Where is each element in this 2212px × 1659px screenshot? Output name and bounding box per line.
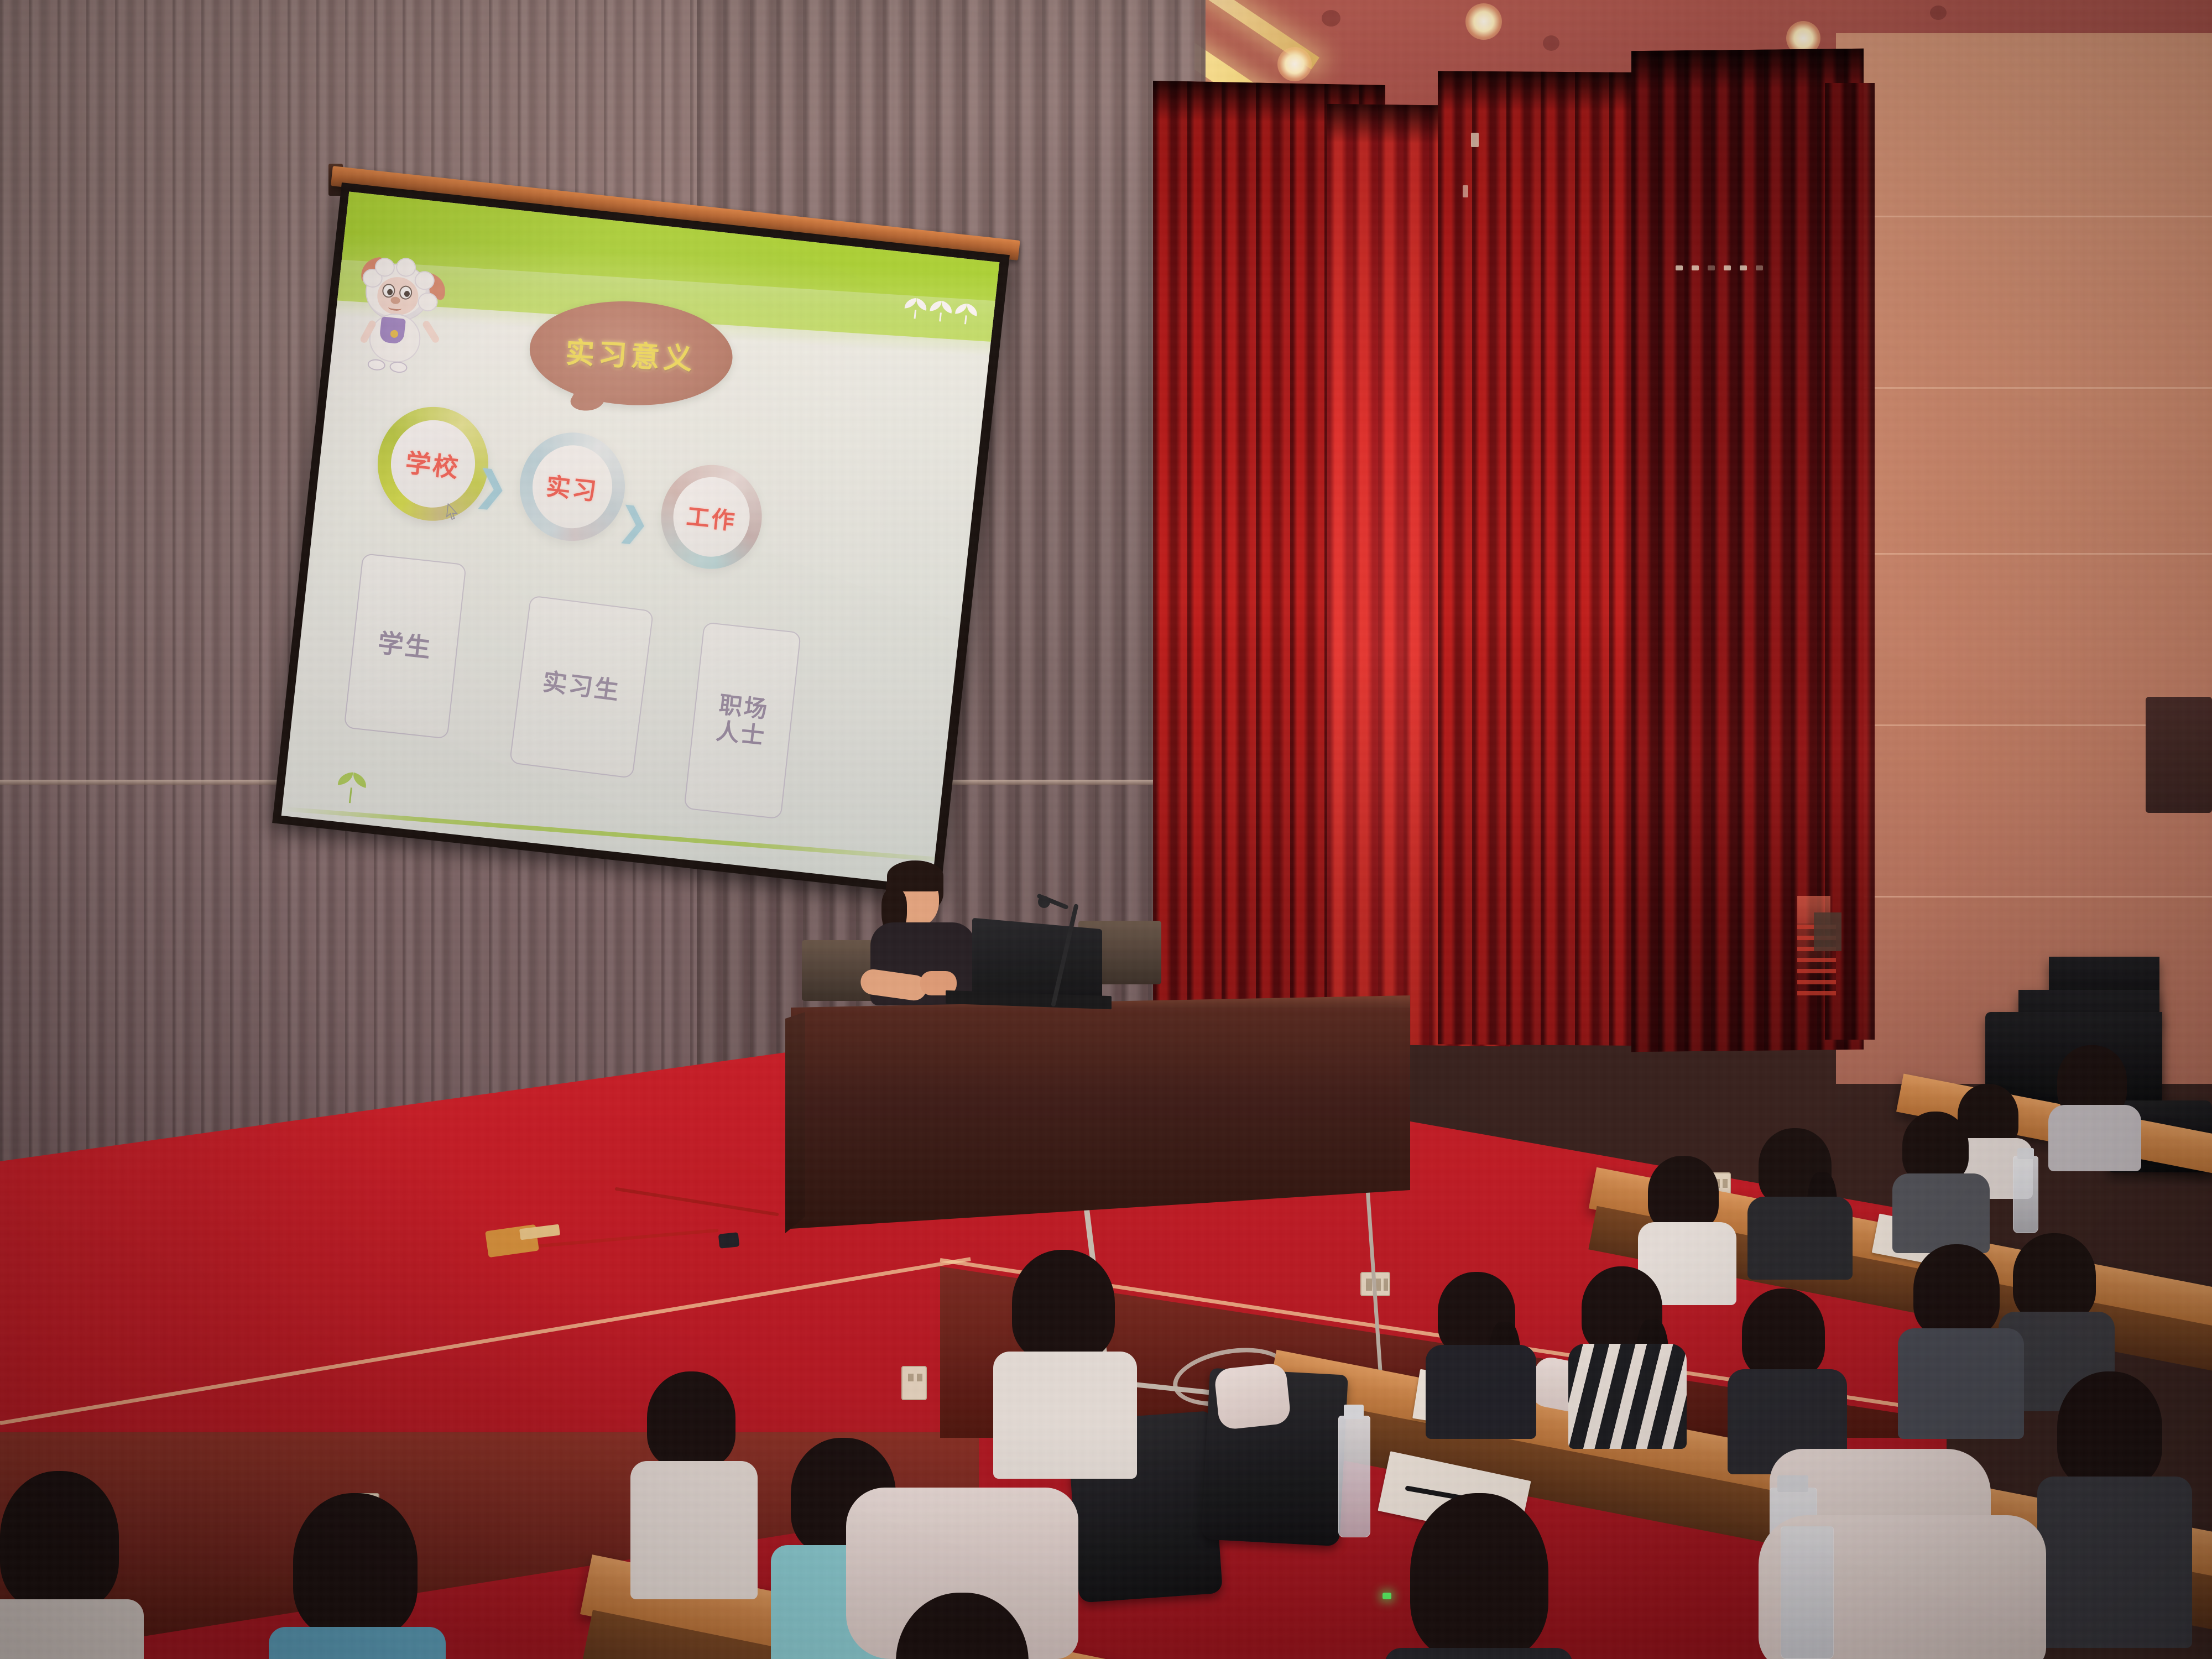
wall-outlet [901, 1366, 927, 1400]
wall-seam [1836, 216, 2212, 217]
podium-side-panel [785, 1012, 805, 1233]
person-body [630, 1461, 758, 1599]
bottle-cap [1344, 1405, 1364, 1419]
person-body [1747, 1197, 1853, 1280]
ceiling-vent [1322, 10, 1340, 27]
role-line-2: 人士 [715, 717, 768, 749]
ceiling-downlight [1465, 3, 1502, 40]
person-hair [1410, 1493, 1548, 1659]
slide-bottom-sprout [336, 771, 368, 804]
person-body [1426, 1345, 1536, 1439]
presenter-podium [791, 1008, 1410, 1229]
role-box-intern-label: 实习生 [541, 669, 622, 706]
sprout-icon [904, 298, 928, 320]
role-box-intern: 实习生 [509, 596, 654, 779]
role-box-student: 学生 [343, 553, 466, 739]
red-curtain-edge-strip [1825, 83, 1875, 1040]
ceiling-vent [1930, 6, 1947, 20]
person-body [269, 1627, 446, 1659]
slide-title: 实习意义 [565, 329, 697, 377]
sheep-mascot-icon [346, 256, 452, 393]
person-body [0, 1599, 144, 1659]
role-box-professional-label: 职场 人士 [715, 691, 770, 750]
person-body [993, 1352, 1137, 1479]
flow-ring-school-label: 学校 [404, 442, 462, 484]
sprout-icon [954, 303, 979, 325]
chevron-right-icon: ❯ [472, 461, 512, 512]
stage-prop-box [1814, 912, 1841, 951]
person-body [2037, 1477, 2192, 1648]
water-bottle [2013, 1156, 2038, 1233]
chevron-right-icon: ❯ [615, 497, 653, 546]
sprout-icon [929, 300, 953, 322]
person-hair [293, 1493, 418, 1637]
white-towel-on-desk [1214, 1363, 1292, 1431]
person-body [1892, 1173, 1990, 1253]
flow-ring-internship: 实习 [514, 427, 630, 546]
wall-seam [1836, 553, 2212, 555]
floor-cable-black [718, 1232, 740, 1249]
projection-screen-assembly: 实习意义 学校 ❯ 实习 ❯ 工作 [332, 166, 1056, 885]
water-bottle [1338, 1416, 1370, 1537]
power-indicator-led [1383, 1593, 1391, 1599]
person-hair [1742, 1288, 1825, 1378]
person-hair [1648, 1156, 1719, 1231]
person-body [1898, 1328, 2024, 1439]
person-hair [1902, 1112, 1969, 1182]
wall-recess-panel [2146, 697, 2212, 813]
flow-ring-work-label: 工作 [685, 498, 738, 536]
flow-ring-internship-label: 实习 [545, 466, 600, 507]
flow-ring-work: 工作 [656, 460, 767, 575]
person-hair [2013, 1233, 2096, 1322]
curtain-reflection-lights [1676, 265, 1763, 270]
person-hair [647, 1371, 735, 1468]
role-box-student-label: 学生 [377, 629, 434, 664]
water-bottle [1781, 1526, 1834, 1659]
slide-canvas: 实习意义 学校 ❯ 实习 ❯ 工作 [281, 192, 1000, 886]
speech-bubble-tail [567, 387, 608, 415]
person-hair [2057, 1371, 2162, 1488]
wall-seam [1836, 387, 2212, 389]
ceiling-vent [1543, 35, 1559, 51]
auditorium-photo: 实习意义 学校 ❯ 实习 ❯ 工作 [0, 0, 2212, 1659]
role-box-professional: 职场 人士 [684, 622, 801, 820]
sprout-icon [336, 771, 368, 804]
person-body [2048, 1105, 2141, 1171]
bottle-cap [2017, 1148, 2034, 1159]
person-hair [0, 1471, 119, 1609]
person-hair [1012, 1250, 1115, 1360]
person-body-striped [1568, 1344, 1687, 1449]
presenter-hair-top [887, 860, 943, 891]
person-body [1385, 1648, 1573, 1659]
curtain-reflection-spot [1471, 133, 1479, 147]
projection-screen: 实习意义 学校 ❯ 实习 ❯ 工作 [272, 182, 1010, 895]
right-wall [1836, 33, 2212, 1084]
slide-baseline-decoration [282, 806, 935, 861]
mouse-cursor-icon [445, 503, 459, 521]
bottle-cap [1777, 1475, 1808, 1492]
curtain-reflection-spot [1463, 185, 1468, 197]
ceiling-downlight [1277, 47, 1312, 81]
wall-seam [1836, 896, 2212, 898]
person-hair [1913, 1244, 2000, 1337]
